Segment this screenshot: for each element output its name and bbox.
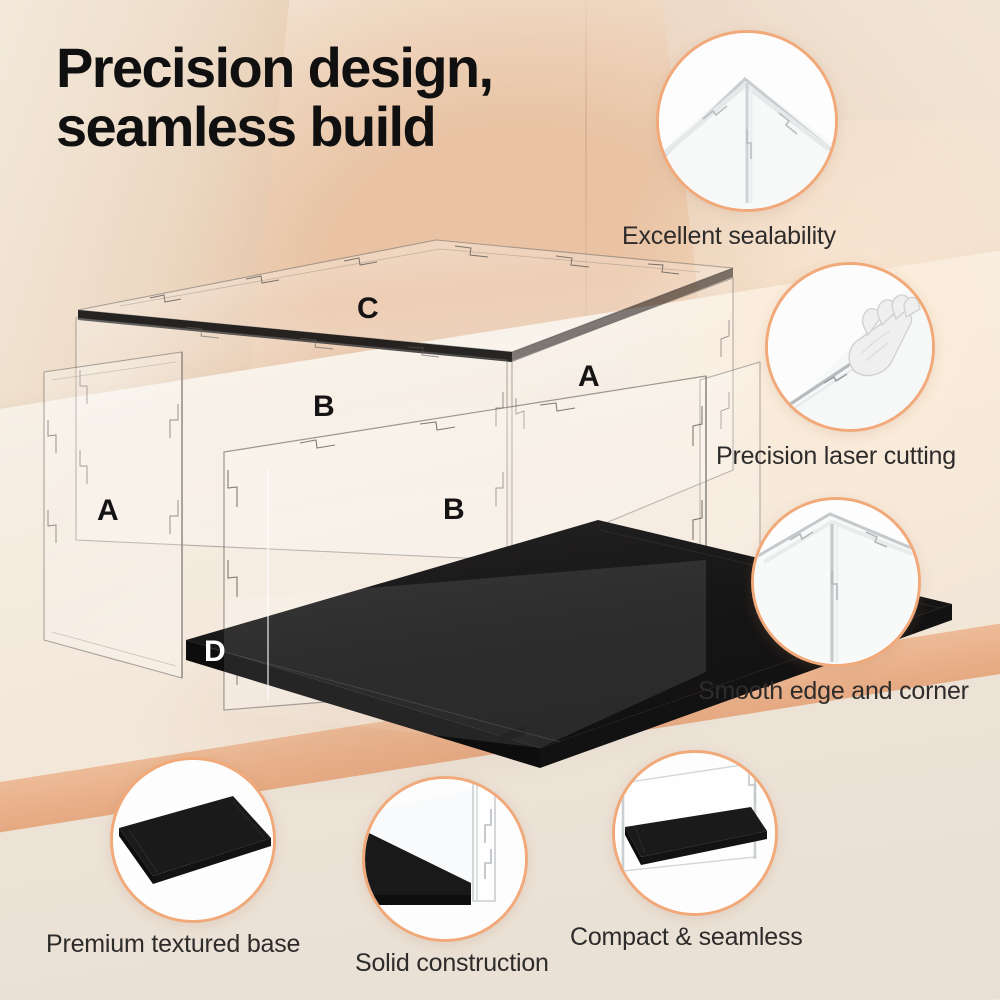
acrylic-corner-photo [751,497,921,667]
acrylic-edge-seal-photo [656,30,838,212]
feature-callout-laser-cutting[interactable]: Precision laser cutting [765,262,935,432]
feature-label-compact-seamless: Compact & seamless [570,923,803,952]
panel-label-c: C [357,292,379,326]
feature-callout-sealability[interactable]: Excellent sealability [656,30,838,212]
panel-label-d-base: D [204,635,226,669]
feature-label-smooth-edge: Smooth edge and corner [698,677,969,706]
gloved-hand-panel-photo [765,262,935,432]
feature-label-solid-construction: Solid construction [355,949,549,978]
product-infographic: Precision design, seamless build [0,0,1000,1000]
black-base-plate-photo [110,757,276,923]
feature-label-textured-base: Premium textured base [46,930,300,959]
panel-label-b-back: B [313,390,335,424]
panel-label-a-back: A [578,360,600,394]
page-title: Precision design, seamless build [56,38,616,157]
panel-label-b-front: B [443,493,465,527]
feature-label-sealability: Excellent sealability [622,222,836,251]
assembled-case-photo [612,750,778,916]
feature-label-laser-cutting: Precision laser cutting [716,442,956,471]
panel-on-base-photo [362,776,528,942]
feature-callout-solid-construction[interactable]: Solid construction [362,776,528,942]
feature-callout-smooth-edge[interactable]: Smooth edge and corner [751,497,921,667]
panel-label-a-side: A [97,494,119,528]
feature-callout-compact-seamless[interactable]: Compact & seamless [612,750,778,916]
feature-callout-textured-base[interactable]: Premium textured base [110,757,276,923]
